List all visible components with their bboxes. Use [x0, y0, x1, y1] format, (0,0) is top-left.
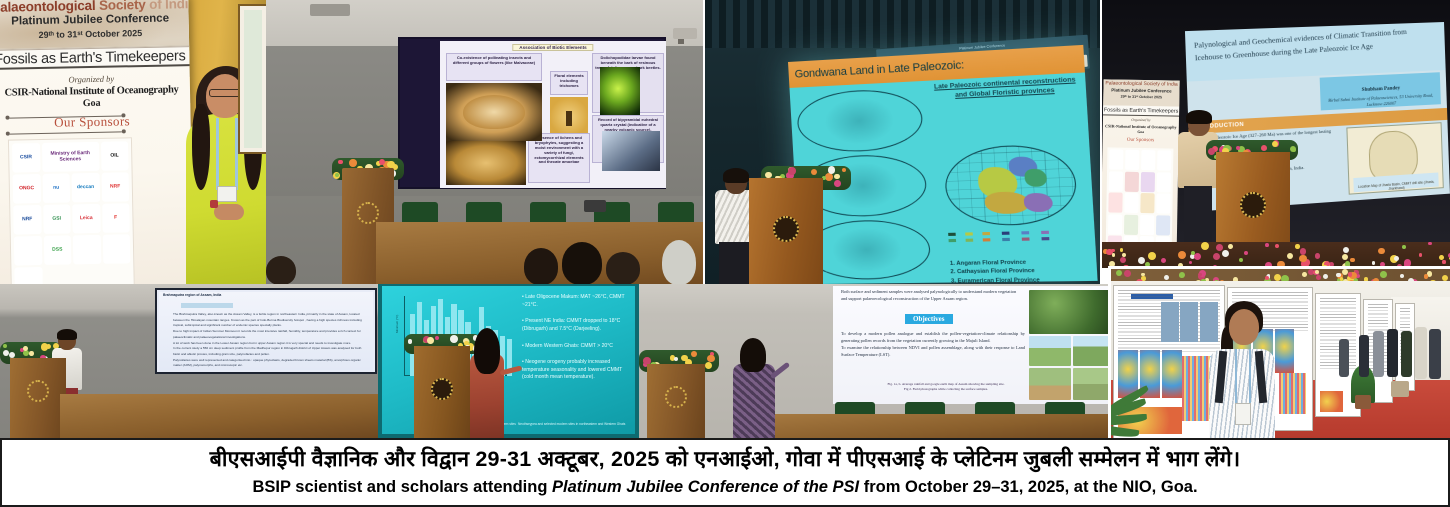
- lanyard: [216, 118, 238, 190]
- flower: [1161, 258, 1166, 263]
- divider-bottom: [10, 131, 122, 134]
- plant-logo: [73, 235, 101, 265]
- flower: [1265, 276, 1269, 280]
- flower: [1116, 270, 1122, 276]
- flower: [1424, 274, 1428, 278]
- wall-poster-frame: [238, 4, 266, 154]
- flower: [1402, 245, 1406, 249]
- audience-head: [606, 252, 640, 285]
- flower: [1428, 242, 1431, 245]
- conference-dates: 29ᵗʰ to 31ˢᵗ October 2025: [0, 27, 189, 41]
- photo-banner-delegate: Palaeontological Society of India Platin…: [0, 0, 266, 285]
- fossil-image-quartz: [602, 131, 660, 171]
- flower: [1261, 145, 1267, 151]
- visitor: [1339, 339, 1349, 377]
- objectives-heading: Objectives: [905, 314, 953, 324]
- objective-item: To examine the relationship between NDVI…: [841, 344, 1025, 358]
- floristic-provinces-map: [943, 143, 1078, 227]
- flower: [1222, 250, 1229, 257]
- flower: [1120, 257, 1126, 263]
- satellite-image: [1029, 290, 1115, 334]
- flower: [1372, 261, 1375, 264]
- researcher-at-poster: [1203, 293, 1283, 438]
- dss-logo: DSS: [43, 235, 71, 265]
- speaker: [466, 328, 508, 438]
- deccan-incois-logo: deccan: [72, 173, 100, 203]
- author-block: Shubham Pandey Birbal Sahni Institute of…: [1320, 72, 1441, 110]
- stage-floral-border: [1102, 242, 1450, 268]
- flower: [338, 160, 342, 164]
- fossil-image-bryophyte: [446, 141, 526, 185]
- sponsors-heading: Our Sponsors: [0, 112, 191, 132]
- ongc-logo: ONGC: [13, 174, 41, 204]
- objectives-list: To develop a modern pollen analogue and …: [841, 330, 1025, 358]
- slide-textbox-1: Co-existence of pollinating insects and …: [446, 53, 542, 81]
- flower: [788, 167, 796, 175]
- hair-left-strand: [192, 104, 210, 190]
- nu-ametek-logo: nu: [42, 173, 70, 203]
- conference-standee: Palaeontological Society of India Platin…: [1102, 79, 1180, 268]
- hands: [214, 204, 244, 220]
- flower: [1112, 253, 1116, 257]
- flower: [1380, 271, 1387, 278]
- organizing-city: Goa: [1103, 129, 1179, 134]
- id-badge: [1235, 403, 1251, 425]
- standee-header: Palaeontological Society of India Platin…: [1103, 79, 1179, 106]
- flower: [1265, 243, 1269, 247]
- luggage: [1391, 381, 1409, 397]
- flower: [1300, 248, 1306, 254]
- flower: [1236, 146, 1240, 150]
- institute-emblem: [665, 386, 687, 408]
- oil-india-logo: OIL: [100, 141, 128, 171]
- flower: [29, 351, 34, 356]
- reconstruction-map-early-permian: [796, 87, 924, 153]
- flower: [705, 362, 712, 369]
- photo-poster-session: [1108, 266, 1450, 438]
- flower: [435, 336, 439, 340]
- conference-dates: 29ᵗʰ to 31ˢᵗ October 2025: [1103, 94, 1179, 99]
- slide-title: Brahmaputra region of Assam, India: [163, 293, 221, 297]
- flower: [691, 351, 697, 357]
- speaker: [729, 338, 781, 438]
- plant-pot: [1355, 395, 1371, 409]
- flower: [1316, 275, 1321, 280]
- flower: [834, 180, 841, 187]
- figure-captions: Fig. 1a, b. Average rainfall and google …: [867, 382, 1025, 392]
- flower: [1348, 272, 1353, 277]
- flower: [1378, 248, 1385, 255]
- flower: [1189, 261, 1192, 264]
- flower: [1323, 274, 1328, 279]
- flower: [1194, 253, 1201, 260]
- visitor: [1359, 335, 1369, 377]
- partner-logo-blue: [14, 267, 42, 285]
- flower: [1228, 244, 1233, 249]
- institute-emblem: [431, 378, 453, 400]
- hair: [723, 168, 749, 183]
- flower: [450, 335, 458, 343]
- slide-subhead: [181, 303, 233, 308]
- caption-english-after: from October 29–31, 2025, at the NIO, Go…: [859, 478, 1197, 496]
- flower: [1216, 244, 1223, 251]
- flower: [1122, 253, 1126, 257]
- visitor: [1373, 331, 1384, 377]
- conference-theme: Fossils as Earth's Timekeepers: [0, 46, 190, 70]
- flower: [828, 166, 836, 174]
- photo-biotic-elements-talk: Association of Biotic Elements Co-existe…: [266, 0, 703, 285]
- flower: [3, 344, 7, 348]
- photo-collage: Palaeontological Society of India Platin…: [0, 0, 1450, 507]
- slide-brahmaputra: Brahmaputra region of Assam, India The B…: [159, 292, 373, 370]
- institute-emblem: [773, 216, 799, 242]
- institute-emblem: [1240, 192, 1266, 218]
- csir-logo: CSIR: [12, 143, 40, 173]
- conference-name: Platinum Jubilee Conference: [1103, 87, 1179, 93]
- flower: [427, 337, 433, 343]
- caption-english-italic: Platinum Jubilee Conference of the PSI: [552, 478, 859, 496]
- flower: [1138, 257, 1146, 265]
- partner-logo-pink: [102, 234, 130, 264]
- flower: [1244, 251, 1248, 255]
- institute-emblem: [357, 202, 379, 224]
- caption-bar: बीएसआईपी वैज्ञानिक और विद्वान 29-31 अक्ट…: [0, 438, 1450, 507]
- bullet-item: • Present NE India: CMMT dropped to 18°C…: [522, 318, 630, 333]
- flower: [1295, 244, 1300, 249]
- slide-bullets: • Late Oligocene Makum: MAT ~26°C, CMMT …: [522, 294, 630, 391]
- wristwatch: [210, 200, 218, 208]
- field-photo: [1029, 336, 1071, 366]
- visitor: [1401, 331, 1412, 377]
- field-photo: [1029, 368, 1071, 400]
- slide-preamble: Both surface and sediment samples were a…: [841, 288, 1023, 302]
- slide-objectives: Both surface and sediment samples were a…: [833, 286, 1117, 404]
- stage-desk: [60, 394, 378, 438]
- slide-biotic-elements: Association of Biotic Elements Co-existe…: [440, 41, 666, 188]
- flower: [1342, 254, 1348, 260]
- sponsors-heading: Our Sponsors: [1103, 137, 1179, 143]
- flower: [1315, 253, 1320, 258]
- spectacles: [209, 89, 241, 97]
- dress: [733, 364, 775, 438]
- bullet-item: • Late Oligocene Makum: MAT ~26°C, CMMT …: [522, 294, 630, 309]
- fossil-image-algae: [600, 67, 640, 115]
- hair: [474, 328, 500, 374]
- caption-hindi: बीएसआईपी वैज्ञानिक और विद्वान 29-31 अक्ट…: [210, 448, 1241, 472]
- conference-theme: Fossils as Earth's Timekeepers: [1103, 105, 1179, 116]
- projector: [673, 28, 697, 39]
- slide-textbox-2: Floral elements including trichomes: [550, 71, 588, 95]
- flower: [408, 339, 413, 344]
- flower: [1442, 260, 1445, 263]
- figure-caption: Fig 2. Field photographs while collectin…: [867, 387, 1025, 392]
- photo-cmmt-talk: Minimum (°C) • Late Oligocene Makum: MAT…: [378, 284, 639, 438]
- landmass-teal: [1025, 168, 1047, 186]
- national-research-foundation-logo: NRF: [13, 205, 41, 235]
- ministry-of-earth-sciences-logo: Ministry of Earth Sciences: [41, 142, 99, 172]
- hair: [57, 329, 77, 340]
- projection-screen: Brahmaputra region of Assam, India The B…: [155, 288, 377, 374]
- floral-province-list: 1. Angaran Floral Province 2. Cathaysian…: [950, 257, 1100, 285]
- flower: [1419, 253, 1423, 257]
- fossil-image-trichome: [550, 97, 588, 133]
- photo-gondwana-talk: Platinum Jubilee Conference Gondwana Lan…: [705, 0, 1100, 285]
- survey-map-logo: GSI: [43, 204, 71, 234]
- photo-objectives-talk: Both surface and sediment samples were a…: [639, 284, 1117, 438]
- field-photo-grid: [1029, 290, 1115, 400]
- flower: [379, 159, 385, 165]
- audience-head: [562, 242, 602, 285]
- photo-palynological-talk: Palynological and Geochemical evidences …: [1102, 0, 1450, 268]
- podium: [414, 346, 470, 438]
- flower: [1164, 275, 1169, 280]
- flower: [1274, 274, 1281, 281]
- flower: [1439, 255, 1444, 260]
- trousers: [1184, 186, 1212, 248]
- flower: [349, 159, 357, 167]
- stage-camera: [584, 200, 606, 212]
- flower: [1239, 258, 1243, 262]
- partner-logo-red: [14, 236, 42, 266]
- projection-screen: Both surface and sediment samples were a…: [833, 286, 1117, 404]
- podium: [10, 358, 66, 438]
- sponsor-logo-grid: CSIR Ministry of Earth Sciences OIL ONGC…: [12, 141, 131, 285]
- visitor: [1415, 327, 1427, 379]
- organizing-city: Goa: [0, 96, 190, 111]
- flower: [1198, 273, 1201, 276]
- flower: [1299, 255, 1307, 263]
- flower: [1343, 247, 1349, 253]
- flower: [834, 174, 839, 179]
- institute-emblem: [27, 380, 49, 402]
- chart-ylabel: Minimum (°C): [395, 315, 399, 333]
- caption-english: BSIP scientist and scholars attending Pl…: [252, 478, 1197, 497]
- podium: [749, 178, 823, 285]
- flower: [1120, 248, 1123, 251]
- sponsor-logo-box: CSIR Ministry of Earth Sciences OIL ONGC…: [8, 137, 135, 285]
- flower: [674, 357, 678, 361]
- audience-head: [662, 240, 696, 285]
- visitor: [1387, 329, 1398, 377]
- flower: [1141, 273, 1144, 276]
- slide-bullets: The Brahmaputra Valley, also known as th…: [173, 312, 367, 369]
- bullet-item: Palynofacies were well represented and c…: [173, 358, 367, 369]
- flower: [681, 355, 688, 362]
- organized-by-label: Organized by: [1103, 117, 1179, 122]
- bullet-item: • Modern Western Ghats: CMMT > 20°C: [522, 343, 630, 351]
- face: [1229, 309, 1259, 345]
- flower: [1213, 253, 1220, 260]
- hair: [740, 338, 766, 372]
- stage-desk: [739, 414, 1117, 438]
- audience-head: [524, 248, 558, 285]
- projection-screen: Association of Biotic Elements Co-existe…: [398, 37, 666, 189]
- flower: [1287, 253, 1293, 259]
- author-affiliation: Birbal Sahni Institute of Palaeosciences…: [1320, 92, 1440, 110]
- fomento-logo: F: [102, 203, 130, 233]
- objective-item: To develop a modern pollen analogue and …: [841, 330, 1025, 344]
- flower: [1201, 242, 1209, 250]
- leica-logo: Leica: [72, 204, 100, 234]
- conference-standee: Palaeontological Society of India Platin…: [0, 0, 194, 285]
- photo-brahmaputra-talk: Brahmaputra region of Assam, India The B…: [0, 284, 378, 438]
- flower: [9, 352, 15, 358]
- nrf-logo: NRF: [101, 172, 129, 202]
- flower: [1350, 258, 1354, 262]
- flower: [1178, 251, 1186, 259]
- flower: [811, 169, 817, 175]
- flower: [1124, 270, 1131, 277]
- figure-caption-right: Neothseypea and selected modern sites in…: [518, 422, 630, 426]
- hair: [1186, 110, 1212, 124]
- bullet-item: • Neogene orogeny probably increased tem…: [522, 359, 630, 382]
- map-legend: [948, 230, 1085, 256]
- flower: [1336, 273, 1340, 277]
- standee-header: Palaeontological Society of India Platin…: [0, 0, 189, 50]
- trousers: [719, 242, 753, 285]
- ac-vent: [310, 4, 350, 16]
- bullet-item: Due to high impact of Indian Summer Mons…: [173, 329, 367, 340]
- bullet-item: In the current study a 550 cm deep sedim…: [173, 346, 367, 357]
- flower: [1275, 244, 1279, 248]
- flower: [1302, 272, 1307, 277]
- visitor: [1429, 329, 1441, 379]
- flower: [23, 346, 28, 351]
- caption-english-before: BSIP scientist and scholars attending: [252, 478, 552, 496]
- location-map: Location Map of Jharia Basin, CMMT drill…: [1346, 122, 1443, 194]
- flower: [1148, 252, 1156, 260]
- flower: [1394, 256, 1399, 261]
- podium: [647, 364, 705, 438]
- id-badge: [217, 186, 237, 202]
- conference-name: Platinum Jubilee Conference: [0, 12, 189, 28]
- flower: [1400, 274, 1404, 278]
- flower: [1179, 272, 1185, 278]
- palm-foliage: [1108, 388, 1179, 438]
- slide-title: Association of Biotic Elements: [512, 44, 593, 51]
- projection-screen: Gondwana Land in Late Paleozoic: Late Pa…: [788, 45, 1098, 284]
- bullet-item: The Brahmaputra Valley, also known as th…: [173, 312, 367, 329]
- audience-head: [266, 256, 296, 285]
- flower: [707, 355, 714, 362]
- author-name: Shubham Pandey: [1362, 86, 1401, 93]
- lanyard: [1235, 349, 1251, 405]
- fossil-image-flower: [446, 83, 542, 141]
- flower: [842, 168, 846, 172]
